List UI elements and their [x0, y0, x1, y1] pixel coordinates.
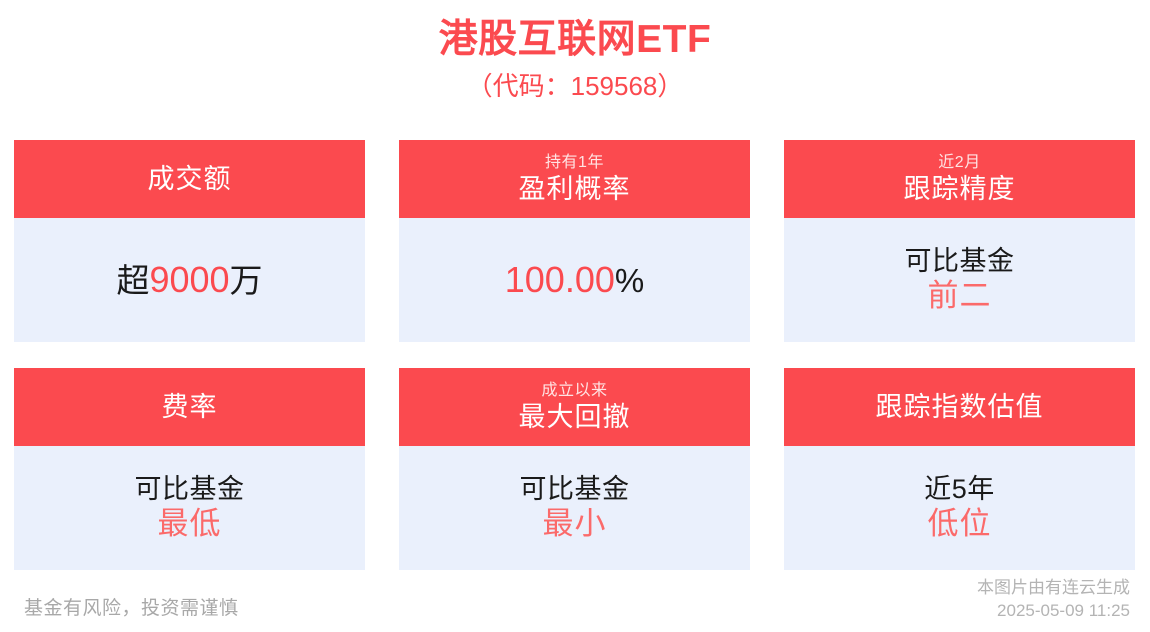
footer: 基金有风险，投资需谨慎 本图片由有连云生成 2025-05-09 11:25	[0, 568, 1150, 632]
card-value-label: 可比基金	[135, 473, 245, 505]
metric-card-fee-rate: 费率 可比基金 最低	[14, 368, 365, 570]
card-value-suffix: 万	[230, 262, 263, 299]
card-value-label: 可比基金	[905, 245, 1015, 277]
footer-meta: 本图片由有连云生成 2025-05-09 11:25	[977, 576, 1130, 622]
metric-card-max-drawdown: 成立以来 最大回撤 可比基金 最小	[399, 368, 750, 570]
metric-card-index-valuation: 跟踪指数估值 近5年 低位	[784, 368, 1135, 570]
card-value-prefix: 超	[116, 262, 149, 299]
card-header-title: 最大回撤	[519, 401, 631, 433]
card-value-label: 近5年	[924, 473, 995, 505]
card-body: 超9000万	[14, 218, 365, 342]
card-header: 持有1年 盈利概率	[399, 140, 750, 218]
card-value-accent: 最小	[543, 505, 607, 543]
card-value-label: 可比基金	[520, 473, 630, 505]
card-header-title: 成交额	[148, 163, 232, 195]
generation-timestamp: 2025-05-09 11:25	[977, 599, 1130, 622]
metric-card-tracking-accuracy: 近2月 跟踪精度 可比基金 前二	[784, 140, 1135, 342]
card-value-accent: 100.00	[505, 259, 615, 300]
card-value-accent: 前二	[928, 277, 992, 315]
page-title-block: 港股互联网ETF （代码：159568）	[0, 0, 1150, 104]
card-header-subtitle: 近2月	[938, 153, 980, 173]
card-header-title: 跟踪指数估值	[876, 391, 1044, 423]
card-header: 费率	[14, 368, 365, 446]
metric-card-grid: 成交额 超9000万 持有1年 盈利概率 100.00% 近2月 跟踪精度 可比…	[14, 140, 1136, 570]
card-header: 近2月 跟踪精度	[784, 140, 1135, 218]
card-header: 成交额	[14, 140, 365, 218]
card-value-accent: 低位	[928, 505, 992, 543]
card-body: 可比基金 前二	[784, 218, 1135, 342]
image-source: 本图片由有连云生成	[977, 576, 1130, 599]
card-value-accent: 9000	[149, 259, 229, 300]
card-value-accent: 最低	[158, 505, 222, 543]
fund-code-subtitle: （代码：159568）	[0, 68, 1150, 104]
card-value-suffix: %	[615, 262, 644, 299]
page-title: 港股互联网ETF	[0, 16, 1150, 64]
card-body: 100.00%	[399, 218, 750, 342]
card-header-title: 跟踪精度	[904, 173, 1016, 205]
card-header: 跟踪指数估值	[784, 368, 1135, 446]
card-header-title: 费率	[162, 391, 218, 423]
card-body: 近5年 低位	[784, 446, 1135, 570]
card-header-subtitle: 持有1年	[545, 153, 604, 173]
card-header-title: 盈利概率	[519, 173, 631, 205]
card-value: 100.00%	[505, 259, 644, 302]
card-body: 可比基金 最低	[14, 446, 365, 570]
card-body: 可比基金 最小	[399, 446, 750, 570]
metric-card-profit-probability: 持有1年 盈利概率 100.00%	[399, 140, 750, 342]
card-header-subtitle: 成立以来	[541, 381, 607, 401]
card-header: 成立以来 最大回撤	[399, 368, 750, 446]
risk-disclaimer: 基金有风险，投资需谨慎	[24, 596, 239, 622]
metric-card-turnover: 成交额 超9000万	[14, 140, 365, 342]
card-value: 超9000万	[116, 259, 262, 302]
